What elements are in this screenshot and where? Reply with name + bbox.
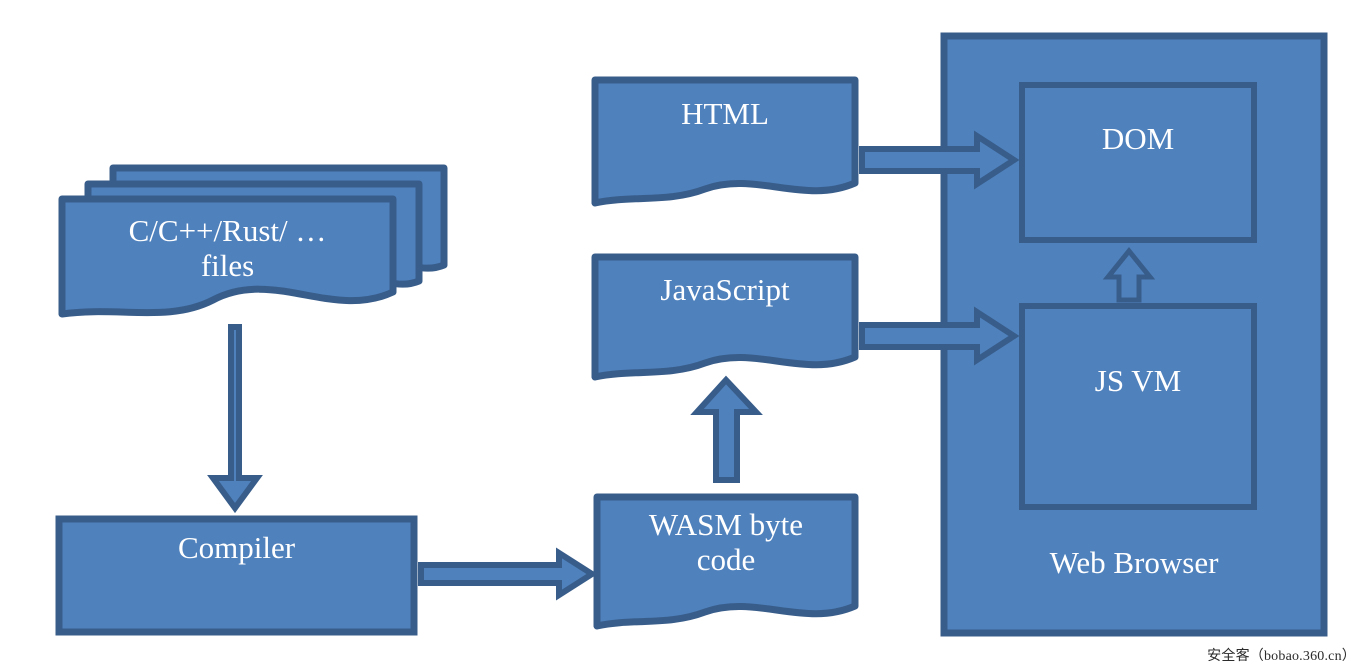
diagram-canvas: C/C++/Rust/ … files Compiler WASM byte c… [0, 0, 1364, 668]
arrow-wasm-to-javascript [697, 380, 756, 480]
compiler-box[interactable] [59, 519, 414, 632]
js-vm-box[interactable] [1022, 306, 1254, 507]
arrow-compiler-to-wasm [421, 553, 592, 595]
diagram-shapes-layer [0, 0, 1364, 668]
html-doc[interactable] [595, 80, 855, 203]
arrow-html-to-dom [862, 136, 1014, 184]
javascript-doc[interactable] [595, 257, 855, 377]
arrow-source-to-compiler [213, 327, 257, 508]
wasm-byte-code-doc[interactable] [597, 497, 855, 626]
dom-box[interactable] [1022, 85, 1254, 240]
source-files-front[interactable] [62, 199, 393, 314]
watermark-text: 安全客（bobao.360.cn） [1207, 645, 1356, 665]
arrow-javascript-to-jsvm [862, 312, 1014, 360]
